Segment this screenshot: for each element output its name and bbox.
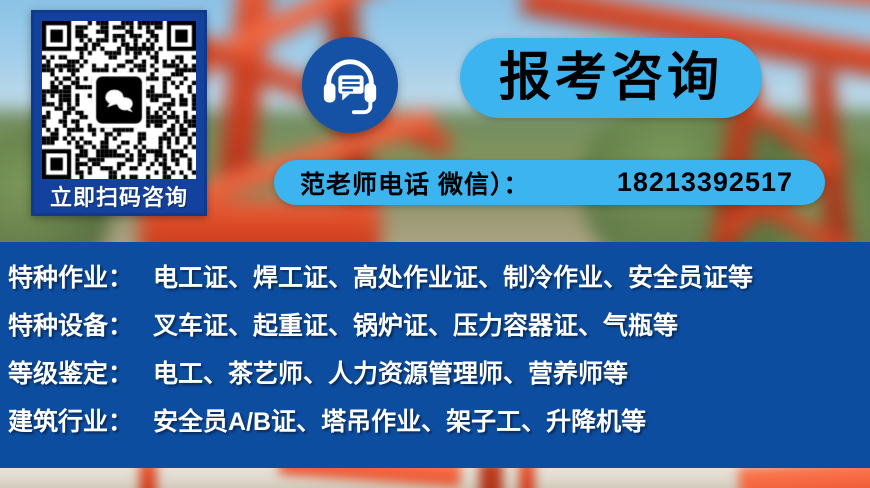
crane-leg xyxy=(140,468,156,488)
certificate-categories-band: 特种作业： 电工证、焊工证、高处作业证、制冷作业、安全员证等 特种设备： 叉车证… xyxy=(0,242,870,468)
category-label: 特种作业： xyxy=(8,258,133,294)
category-label: 建筑行业： xyxy=(8,402,133,438)
qr-code-canvas[interactable] xyxy=(42,21,196,179)
background-photo-strip xyxy=(0,468,870,488)
table-row: 特种设备： 叉车证、起重证、锅炉证、压力容器证、气瓶等 xyxy=(8,306,870,354)
category-items: 叉车证、起重证、锅炉证、压力容器证、气瓶等 xyxy=(153,306,678,342)
headset-chat-icon xyxy=(302,37,398,133)
crane-beam xyxy=(739,468,870,488)
title-text: 报考咨询 xyxy=(499,52,723,104)
qr-code-image[interactable] xyxy=(42,21,196,179)
contact-pill[interactable]: 范老师电话 微信）： 18213392517 xyxy=(274,160,825,205)
title-pill: 报考咨询 xyxy=(460,38,762,118)
contact-label: 范老师电话 微信）： xyxy=(300,165,529,201)
qr-code-card[interactable]: 立即扫码咨询 xyxy=(31,10,207,216)
contact-phone-number[interactable]: 18213392517 xyxy=(617,167,799,198)
background-photo-strip-layer xyxy=(0,468,870,488)
crane-leg xyxy=(520,468,534,488)
crane-beam xyxy=(279,468,460,486)
crane-leg xyxy=(480,468,502,488)
category-items: 安全员A/B证、塔吊作业、架子工、升降机等 xyxy=(153,402,646,438)
category-label: 特种设备： xyxy=(8,306,133,342)
table-row: 特种作业： 电工证、焊工证、高处作业证、制冷作业、安全员证等 xyxy=(8,258,870,306)
category-items: 电工证、焊工证、高处作业证、制冷作业、安全员证等 xyxy=(153,258,753,294)
qr-code-caption: 立即扫码咨询 xyxy=(42,179,196,217)
table-row: 建筑行业： 安全员A/B证、塔吊作业、架子工、升降机等 xyxy=(8,402,870,450)
table-row: 等级鉴定： 电工、茶艺师、人力资源管理师、营养师等 xyxy=(8,354,870,402)
category-items: 电工、茶艺师、人力资源管理师、营养师等 xyxy=(153,354,628,390)
poster-advertisement: 立即扫码咨询 报考咨询 范老师电话 微信）： 18213392517 xyxy=(0,0,870,488)
category-label: 等级鉴定： xyxy=(8,354,133,390)
